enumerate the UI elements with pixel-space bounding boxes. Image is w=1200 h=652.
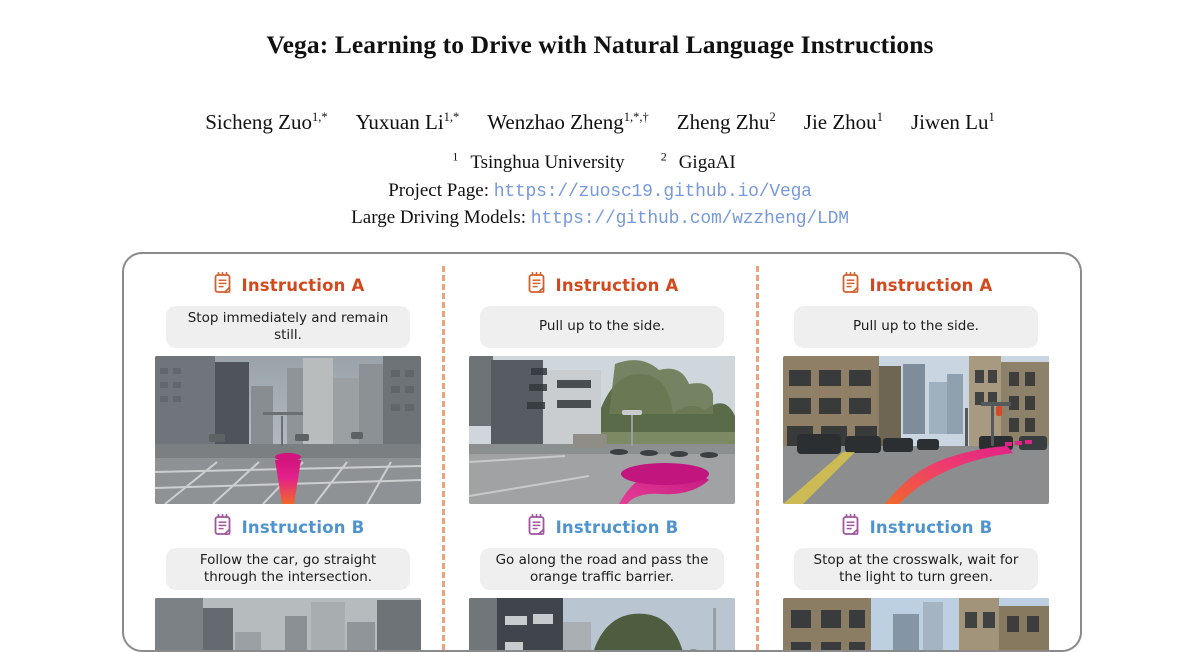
affiliation-1: 2GigaAI <box>661 152 748 173</box>
instruction-b-label: Instruction B <box>556 518 679 537</box>
scene-image-1a <box>155 356 421 504</box>
affiliation-name: GigaAI <box>679 152 736 173</box>
instruction-a-text: Pull up to the side. <box>480 306 724 348</box>
author-0: Sicheng Zuo1,* <box>205 110 327 135</box>
instruction-b-header: Instruction B <box>840 514 993 540</box>
note-icon <box>840 513 862 542</box>
large-driving-models-link[interactable]: https://github.com/wzzheng/LDM <box>531 209 849 229</box>
author-2: Wenzhao Zheng1,*,† <box>487 110 649 135</box>
instruction-a-text: Pull up to the side. <box>794 306 1038 348</box>
project-page-label: Project Page: <box>388 180 489 201</box>
instruction-b-header: Instruction B <box>526 514 679 540</box>
instruction-b-text: Follow the car, go straight through the … <box>166 548 410 590</box>
figure-columns: Instruction A Stop immediately and remai… <box>124 254 1080 650</box>
author-affil-marker: 1 <box>877 110 883 124</box>
teaser-figure-panel: Instruction A Stop immediately and remai… <box>122 252 1082 652</box>
project-page-line: Project Page: https://zuosc19.github.io/… <box>0 180 1200 202</box>
author-affil-marker: 1 <box>989 110 995 124</box>
note-icon <box>526 513 548 542</box>
author-5: Jiwen Lu1 <box>911 110 995 135</box>
large-driving-models-label: Large Driving Models: <box>351 207 526 228</box>
instruction-b-label: Instruction B <box>870 518 993 537</box>
instruction-a-text: Stop immediately and remain still. <box>166 306 410 348</box>
project-page-link[interactable]: https://zuosc19.github.io/Vega <box>494 182 812 202</box>
figure-column-3: Instruction A Pull up to the side. <box>762 262 1070 650</box>
large-driving-models-line: Large Driving Models: https://github.com… <box>0 207 1200 229</box>
instruction-a-label: Instruction A <box>556 276 679 295</box>
figure-column-1: Instruction A Stop immediately and remai… <box>134 262 442 650</box>
note-icon <box>212 513 234 542</box>
author-name: Zheng Zhu <box>677 110 770 134</box>
instruction-a-label: Instruction A <box>870 276 993 295</box>
affiliation-marker: 2 <box>661 150 667 164</box>
page-title: Vega: Learning to Drive with Natural Lan… <box>0 30 1200 60</box>
scene-image-3a <box>783 356 1049 504</box>
affiliation-0: 1Tsinghua University <box>452 152 636 173</box>
author-affil-marker: 2 <box>770 110 776 124</box>
scene-image-2a <box>469 356 735 504</box>
note-icon <box>840 271 862 300</box>
scene-image-2b <box>469 598 735 652</box>
author-affil-marker: 1,* <box>312 110 328 124</box>
author-name: Jie Zhou <box>804 110 877 134</box>
instruction-a-header: Instruction A <box>840 272 993 298</box>
author-name: Sicheng Zuo <box>205 110 312 134</box>
instruction-a-header: Instruction A <box>526 272 679 298</box>
instruction-b-text: Stop at the crosswalk, wait for the ligh… <box>794 548 1038 590</box>
author-4: Jie Zhou1 <box>804 110 883 135</box>
affiliation-marker: 1 <box>452 150 458 164</box>
instruction-b-header: Instruction B <box>212 514 365 540</box>
scene-image-1b <box>155 598 421 652</box>
note-icon <box>212 271 234 300</box>
author-list: Sicheng Zuo1,*Yuxuan Li1,*Wenzhao Zheng1… <box>0 110 1200 135</box>
scene-image-3b <box>783 598 1049 652</box>
figure-column-2: Instruction A Pull up to the side. <box>448 262 756 650</box>
author-1: Yuxuan Li1,* <box>356 110 460 135</box>
instruction-a-label: Instruction A <box>242 276 365 295</box>
author-name: Jiwen Lu <box>911 110 989 134</box>
instruction-a-header: Instruction A <box>212 272 365 298</box>
author-name: Wenzhao Zheng <box>487 110 624 134</box>
author-3: Zheng Zhu2 <box>677 110 776 135</box>
instruction-b-label: Instruction B <box>242 518 365 537</box>
instruction-b-text: Go along the road and pass the orange tr… <box>480 548 724 590</box>
note-icon <box>526 271 548 300</box>
author-affil-marker: 1,* <box>444 110 460 124</box>
affiliation-name: Tsinghua University <box>470 152 624 173</box>
author-name: Yuxuan Li <box>356 110 444 134</box>
affiliation-list: 1Tsinghua University2GigaAI <box>0 150 1200 174</box>
author-affil-marker: 1,*,† <box>624 110 649 124</box>
